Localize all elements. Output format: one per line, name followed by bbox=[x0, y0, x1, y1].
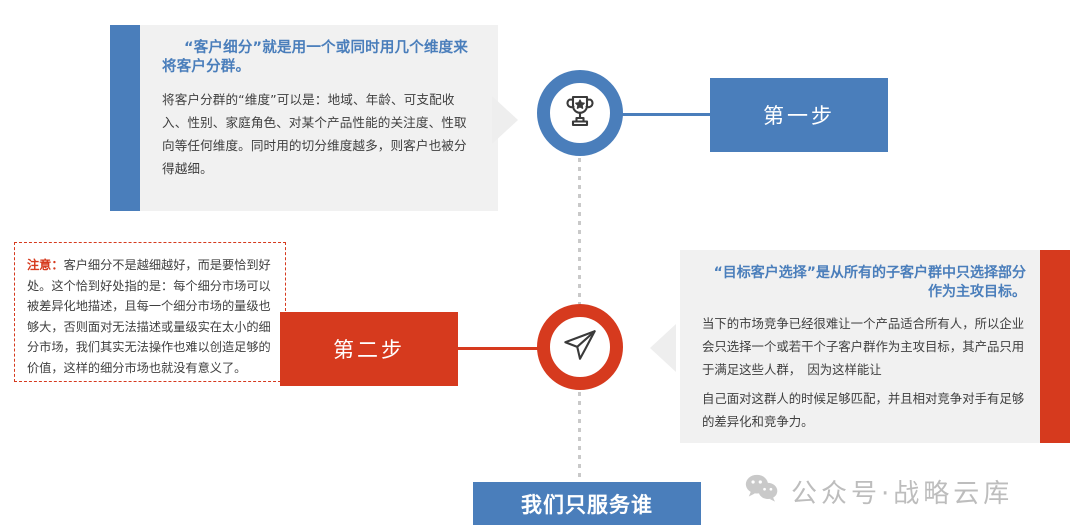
card-accent-bar-blue bbox=[110, 25, 140, 211]
card-body: “客户细分”就是用一个或同时用几个维度来将客户分群。 将客户分群的“维度”可以是… bbox=[140, 25, 498, 211]
card-text: 当下的市场竞争已经很难让一个产品适合所有人，所以企业会只选择一个或若干个子客户群… bbox=[702, 312, 1026, 433]
step-2-label[interactable]: 第二步 bbox=[280, 312, 458, 386]
step-1-ring[interactable] bbox=[537, 70, 623, 156]
step-1-connector bbox=[620, 113, 712, 116]
watermark: 公众号·战略云库 bbox=[745, 470, 1013, 512]
trophy-icon bbox=[559, 90, 601, 136]
watermark-text: 公众号·战略云库 bbox=[791, 473, 1013, 510]
card-accent-bar-red bbox=[1040, 250, 1070, 443]
card-body: “目标客户选择”是从所有的子客户群中只选择部分作为主攻目标。 当下的市场竞争已经… bbox=[680, 250, 1040, 443]
bottom-banner[interactable]: 我们只服务谁 bbox=[473, 482, 701, 525]
notice-body: 客户细分不是越细越好，而是要恰到好处。这个恰到好处指的是：每个细分市场可以被差异… bbox=[27, 258, 271, 375]
notice-box: 注意：客户细分不是越细越好，而是要恰到好处。这个恰到好处指的是：每个细分市场可以… bbox=[14, 242, 286, 382]
chevron-right-icon bbox=[492, 96, 518, 144]
paper-plane-icon bbox=[558, 323, 602, 371]
step-1-label[interactable]: 第一步 bbox=[710, 78, 888, 152]
notice-label: 注意： bbox=[27, 258, 64, 272]
card-customer-segmentation: “客户细分”就是用一个或同时用几个维度来将客户分群。 将客户分群的“维度”可以是… bbox=[110, 25, 498, 211]
connector-dotted-line-upper bbox=[578, 158, 581, 304]
card-paragraph: 当下的市场竞争已经很难让一个产品适合所有人，所以企业会只选择一个或若干个子客户群… bbox=[702, 312, 1026, 381]
chevron-left-icon bbox=[650, 324, 676, 372]
notice-text: 注意：客户细分不是越细越好，而是要恰到好处。这个恰到好处指的是：每个细分市场可以… bbox=[27, 255, 275, 378]
card-heading: “客户细分”就是用一个或同时用几个维度来将客户分群。 bbox=[162, 39, 478, 77]
wechat-icon bbox=[745, 473, 779, 510]
card-target-customer-selection: “目标客户选择”是从所有的子客户群中只选择部分作为主攻目标。 当下的市场竞争已经… bbox=[680, 250, 1070, 443]
card-text: 将客户分群的“维度”可以是：地域、年龄、可支配收入、性别、家庭角色、对某个产品性… bbox=[162, 88, 478, 180]
infographic-canvas: “客户细分”就是用一个或同时用几个维度来将客户分群。 将客户分群的“维度”可以是… bbox=[0, 0, 1080, 525]
card-paragraph: 自己面对这群人的时候足够匹配，并且相对竞争对手有足够的差异化和竞争力。 bbox=[702, 387, 1026, 433]
step-2-ring[interactable] bbox=[537, 304, 623, 390]
card-heading: “目标客户选择”是从所有的子客户群中只选择部分作为主攻目标。 bbox=[702, 264, 1026, 302]
connector-dotted-line-lower bbox=[578, 392, 581, 484]
step-2-connector bbox=[456, 347, 546, 350]
